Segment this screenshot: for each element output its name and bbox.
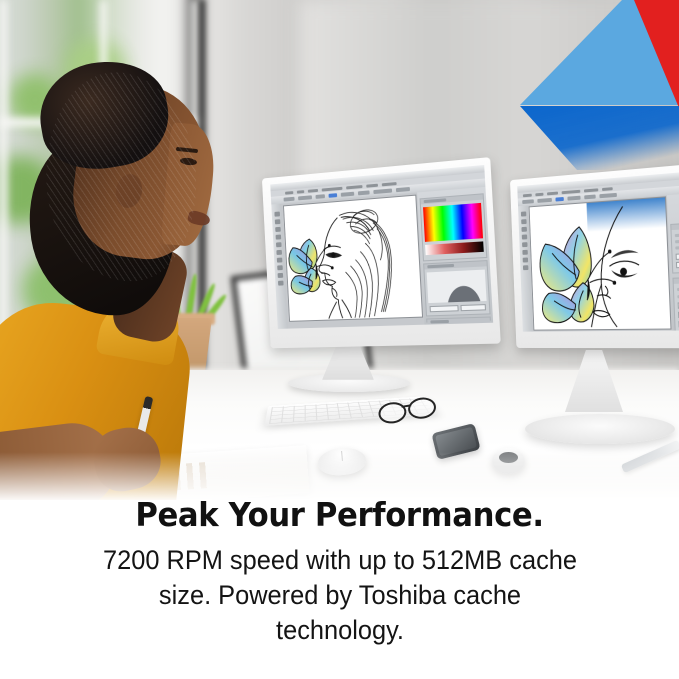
- photo-editor-app-right: [517, 171, 679, 331]
- artwork-canvas-left[interactable]: [284, 196, 422, 321]
- butterfly-face-detail-artwork: [530, 197, 671, 329]
- panel-layers-right[interactable]: [670, 223, 679, 274]
- monitor-left-screen[interactable]: [270, 165, 493, 329]
- subtext: 7200 RPM speed with up to 512MB cache si…: [95, 543, 584, 648]
- woman-designer: [0, 28, 260, 500]
- photo-bottom-fade: [0, 452, 679, 500]
- monitor-left[interactable]: [262, 157, 501, 348]
- panel-layers-left[interactable]: [426, 316, 491, 322]
- product-advertisement: Peak Your Performance. 7200 RPM speed wi…: [0, 0, 679, 679]
- artwork-canvas-right[interactable]: [530, 197, 671, 329]
- monitor-right-base: [525, 414, 675, 444]
- panel-properties-right[interactable]: [672, 277, 679, 332]
- panel-color-picker[interactable]: [420, 193, 488, 261]
- hero-photo: [0, 0, 679, 500]
- photo-editor-app-left: [270, 165, 493, 329]
- app-panels-left[interactable]: [417, 187, 493, 325]
- ad-copy: Peak Your Performance. 7200 RPM speed wi…: [0, 496, 679, 648]
- monitor-right[interactable]: [510, 163, 679, 348]
- monitor-right-screen[interactable]: [517, 171, 679, 331]
- headline: Peak Your Performance.: [24, 496, 655, 534]
- panel-histogram[interactable]: [423, 260, 490, 316]
- woman-with-butterfly-line-drawing: [284, 196, 422, 321]
